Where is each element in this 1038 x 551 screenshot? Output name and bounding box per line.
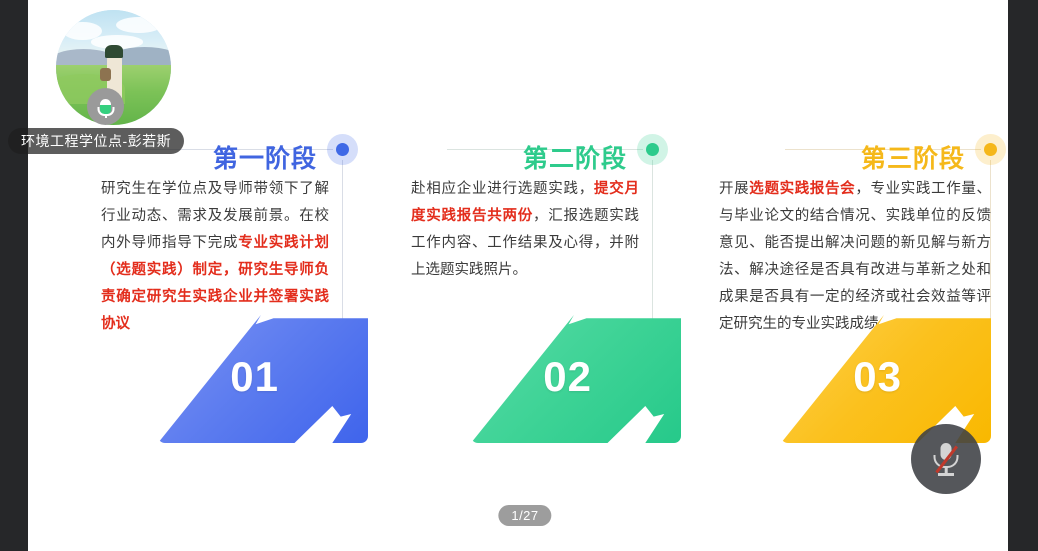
stage-title-1: 第一阶段 (213, 139, 317, 175)
stage-title-2: 第二阶段 (523, 139, 627, 175)
stage-body-2: 赴相应企业进行选题实践，提交月度实践报告共两份，汇报选题实践工作内容、工作结果及… (411, 176, 639, 284)
mic-pole (105, 114, 107, 118)
stage-marker-dot-2 (646, 143, 659, 156)
presentation-slide[interactable]: 第一阶段 研究生在学位点及导师带领下了解行业动态、需求及发展前景。在校内外导师指… (28, 0, 1008, 551)
avatar-cloud-icon (116, 17, 162, 33)
stage-marker-dot-3 (984, 143, 997, 156)
mute-toggle-button[interactable] (911, 424, 981, 494)
stage-body-3-part-0: 开展 (719, 181, 749, 197)
stage-body-2-part-0: 赴相应企业进行选题实践， (411, 181, 594, 197)
avatar-person-bag (100, 68, 112, 82)
page-indicator[interactable]: 1/27 (498, 505, 551, 526)
stage-number-1: 01 (230, 353, 279, 401)
stage-body-3-part-1: 选题实践报告会 (749, 181, 855, 197)
connector-line-vertical-1 (342, 160, 343, 320)
microphone-muted-icon (933, 442, 959, 476)
stage-body-3: 开展选题实践报告会，专业实践工作量、与毕业论文的结合情况、实践单位的反馈意见、能… (719, 176, 991, 338)
stage-number-3: 03 (853, 353, 902, 401)
meeting-screen: 第一阶段 研究生在学位点及导师带领下了解行业动态、需求及发展前景。在校内外导师指… (0, 0, 1038, 551)
stage-body-3-part-2: ，专业实践工作量、与毕业论文的结合情况、实践单位的反馈意见、能否提出解决问题的新… (719, 181, 991, 332)
participant-video-tile[interactable] (56, 10, 171, 125)
participant-name-label: 环境工程学位点-彭若斯 (8, 128, 184, 154)
stage-body-1: 研究生在学位点及导师带领下了解行业动态、需求及发展前景。在校内外导师指导下完成专… (101, 176, 329, 338)
connector-line-vertical-2 (652, 160, 653, 320)
microphone-active-icon (87, 88, 124, 125)
mic-base (938, 473, 954, 476)
stage-column-2: 第二阶段 赴相应企业进行选题实践，提交月度实践报告共两份，汇报选题实践工作内容、… (371, 0, 673, 551)
stage-title-3: 第三阶段 (861, 139, 965, 175)
stage-number-2: 02 (543, 353, 592, 401)
stage-marker-dot-1 (336, 143, 349, 156)
avatar-person-hair (105, 45, 122, 59)
